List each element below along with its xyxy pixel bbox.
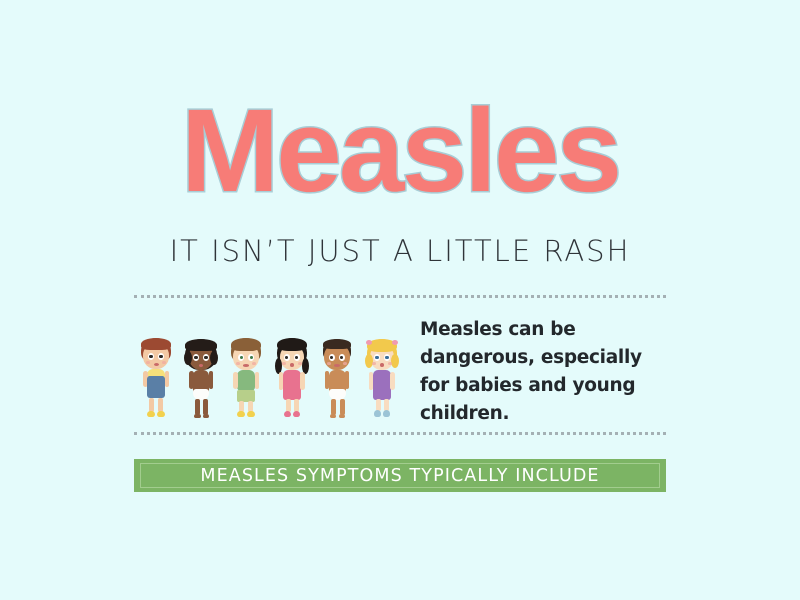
page-subtitle: IT ISN’T JUST A LITTLE RASH: [170, 234, 631, 268]
symptoms-section-banner: MEASLES SYMPTOMS TYPICALLY INCLUDE: [134, 459, 666, 492]
child-figure-6: [362, 336, 402, 422]
measles-infographic: Measles IT ISN’T JUST A LITTLE RASH: [0, 0, 800, 600]
hair-bow-right: [392, 340, 398, 345]
child-figure-4: [272, 336, 312, 422]
divider-bottom: [134, 432, 666, 435]
page-subtitle-container: IT ISN’T JUST A LITTLE RASH: [0, 234, 800, 268]
child-figure-2: [181, 336, 221, 422]
hair-bow-left: [366, 340, 372, 345]
intro-body-text: Measles can be dangerous, especially for…: [420, 310, 666, 428]
divider-top: [134, 295, 666, 298]
page-title: Measles: [181, 92, 619, 210]
six-children-illustration: [134, 310, 402, 422]
intro-band: Measles can be dangerous, especially for…: [134, 310, 666, 422]
child-figure-5: [317, 336, 357, 422]
page-title-container: Measles: [0, 92, 800, 210]
symptoms-banner-label: MEASLES SYMPTOMS TYPICALLY INCLUDE: [200, 466, 599, 486]
child-figure-3: [226, 336, 266, 422]
child-figure-1: [136, 336, 176, 422]
symptoms-banner-inner-border: MEASLES SYMPTOMS TYPICALLY INCLUDE: [140, 463, 660, 488]
